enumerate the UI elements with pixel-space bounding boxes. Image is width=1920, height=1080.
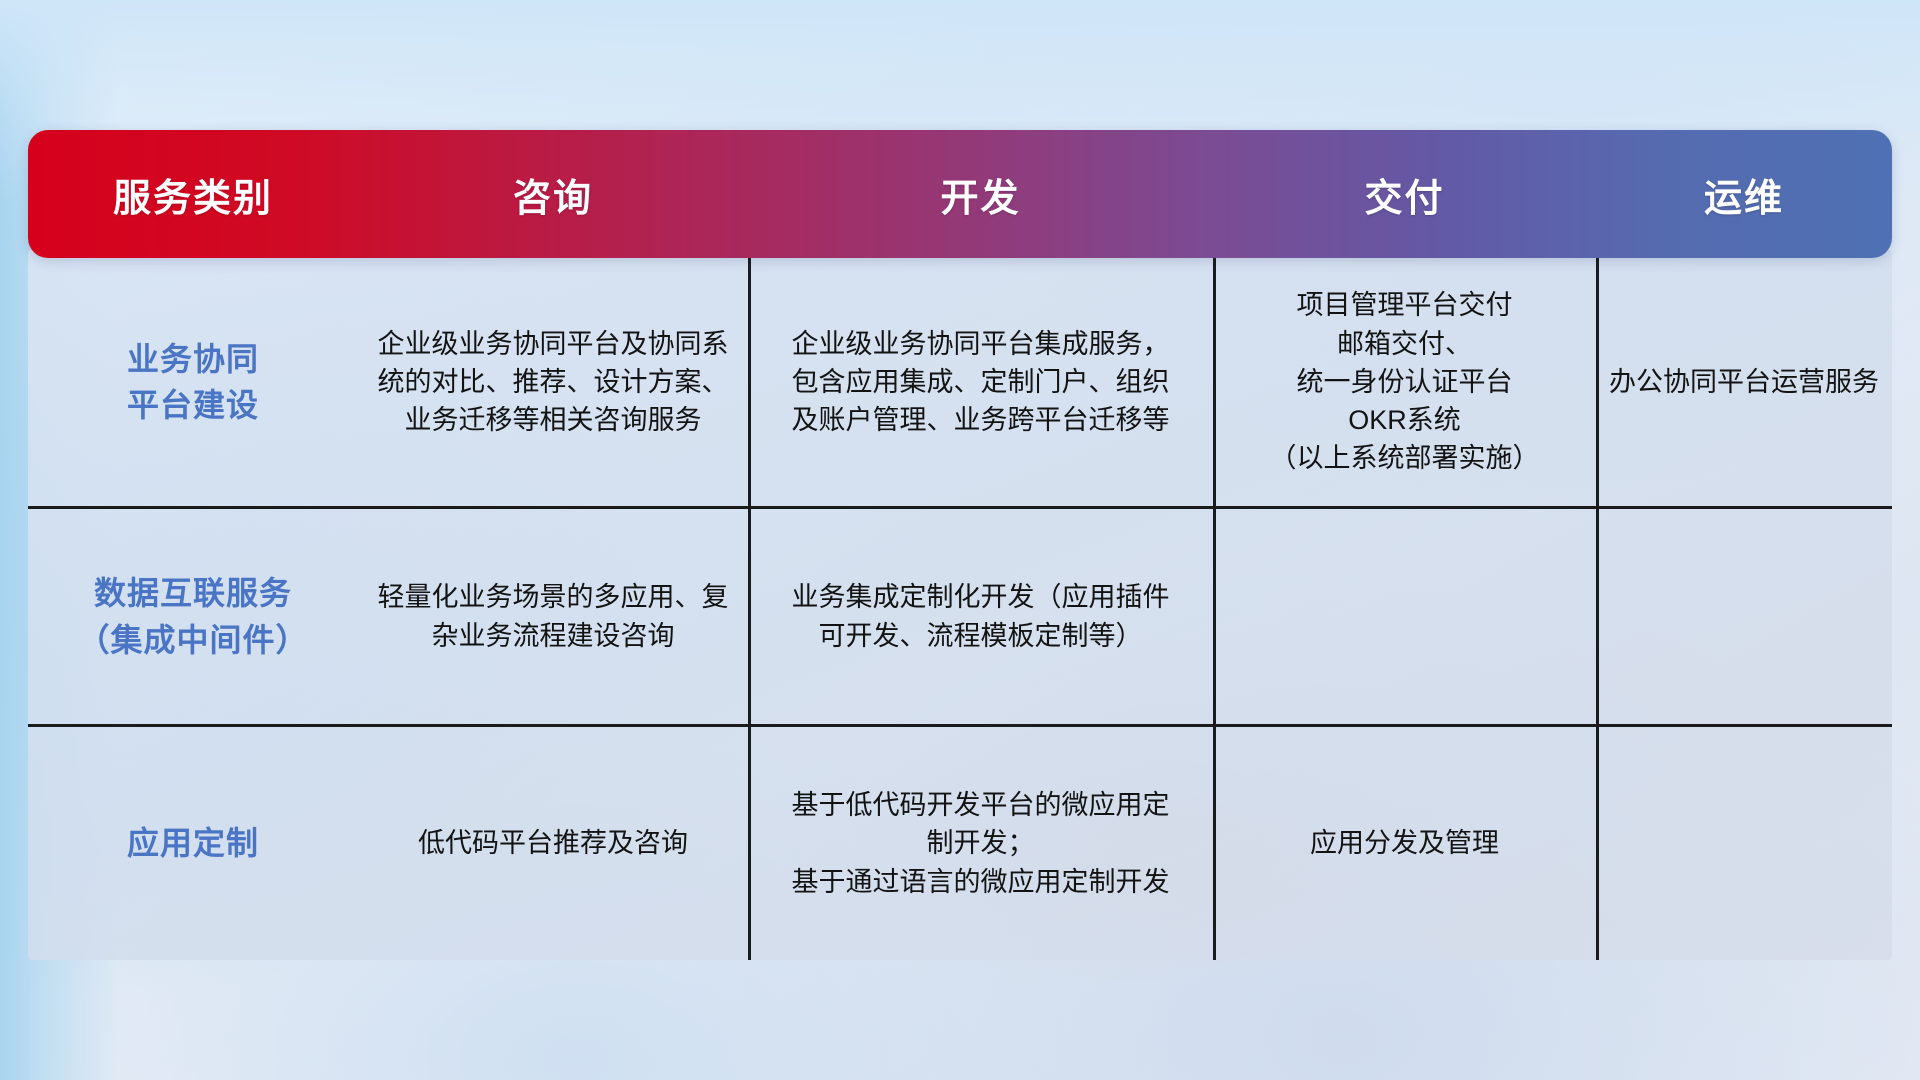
row-consulting-cell: 低代码平台推荐及咨询 [358,727,748,960]
category-label: 业务协同 平台建设 [127,336,259,429]
delivery-text: 应用分发及管理 [1310,824,1499,862]
table-rows: 业务协同 平台建设 企业级业务协同平台及协同系 统的对比、推荐、设计方案、 业务… [28,258,1892,960]
row-delivery-cell: 项目管理平台交付 邮箱交付、 统一身份认证平台 OKR系统 （以上系统部署实施） [1213,258,1596,506]
row-operations-cell: 办公协同平台运营服务 [1596,258,1892,506]
consulting-text: 企业级业务协同平台及协同系 统的对比、推荐、设计方案、 业务迁移等相关咨询服务 [378,325,729,440]
header-cell-operations: 运维 [1596,167,1892,222]
operations-text: 办公协同平台运营服务 [1609,363,1879,401]
consulting-text: 低代码平台推荐及咨询 [418,824,688,862]
row-delivery-cell: 应用分发及管理 [1213,727,1596,960]
header-cell-service-category: 服务类别 [28,167,358,222]
header-cell-consulting: 咨询 [358,167,748,222]
table-header-row: 服务类别 咨询 开发 交付 运维 [28,130,1892,258]
category-label: 应用定制 [127,820,259,866]
row-operations-cell [1596,727,1892,960]
row-operations-cell [1596,509,1892,724]
row-development-cell: 基于低代码开发平台的微应用定 制开发； 基于通过语言的微应用定制开发 [748,727,1213,960]
service-matrix-table: 服务类别 咨询 开发 交付 运维 业务协同 平台建设 企业级业务协同平台及协同系… [28,130,1892,960]
header-cell-development: 开发 [748,167,1213,222]
row-development-cell: 业务集成定制化开发（应用插件 可开发、流程模板定制等） [748,509,1213,724]
development-text: 基于低代码开发平台的微应用定 制开发； 基于通过语言的微应用定制开发 [792,786,1170,901]
header-cell-delivery: 交付 [1213,167,1596,222]
row-delivery-cell [1213,509,1596,724]
development-text: 业务集成定制化开发（应用插件 可开发、流程模板定制等） [792,578,1170,655]
row-consulting-cell: 轻量化业务场景的多应用、复 杂业务流程建设咨询 [358,509,748,724]
table-row: 数据互联服务 （集成中间件） 轻量化业务场景的多应用、复 杂业务流程建设咨询 业… [28,506,1892,724]
delivery-text: 项目管理平台交付 邮箱交付、 统一身份认证平台 OKR系统 （以上系统部署实施） [1270,286,1540,478]
consulting-text: 轻量化业务场景的多应用、复 杂业务流程建设咨询 [378,578,729,655]
row-development-cell: 企业级业务协同平台集成服务， 包含应用集成、定制门户、组织 及账户管理、业务跨平… [748,258,1213,506]
category-label: 数据互联服务 （集成中间件） [77,570,308,663]
row-category-cell: 应用定制 [28,727,358,960]
row-category-cell: 数据互联服务 （集成中间件） [28,509,358,724]
development-text: 企业级业务协同平台集成服务， 包含应用集成、定制门户、组织 及账户管理、业务跨平… [792,325,1170,440]
row-category-cell: 业务协同 平台建设 [28,258,358,506]
table-row: 业务协同 平台建设 企业级业务协同平台及协同系 统的对比、推荐、设计方案、 业务… [28,258,1892,506]
table-row: 应用定制 低代码平台推荐及咨询 基于低代码开发平台的微应用定 制开发； 基于通过… [28,724,1892,960]
row-consulting-cell: 企业级业务协同平台及协同系 统的对比、推荐、设计方案、 业务迁移等相关咨询服务 [358,258,748,506]
